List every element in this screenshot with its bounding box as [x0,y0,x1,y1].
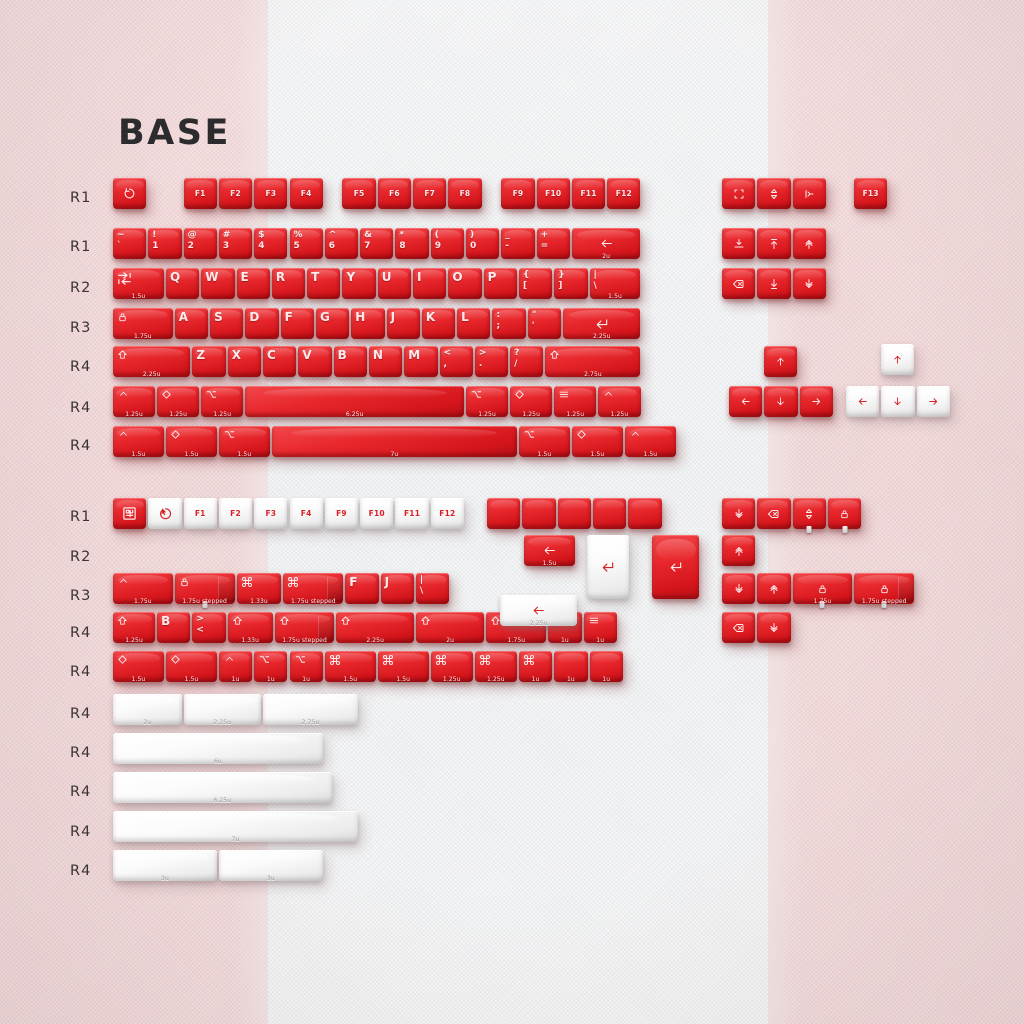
keycap-size-label: 1.25u [554,411,596,418]
keycap-size-label: 1.25u [113,637,155,644]
keycap-legend-top: < [444,349,452,358]
keycap-size-label: 1.5u [113,293,164,300]
keycap-size-label: 6.25u [113,797,332,804]
key-arrow-up-white[interactable] [881,344,914,375]
key-backspace[interactable]: 2u [572,228,641,259]
key-quote[interactable]: "' [528,308,561,339]
row-label-s2-8: R4 [70,824,91,840]
keycap-size-label: 2u [572,253,641,260]
keycap-legend-bottom: 7 [364,242,370,251]
key-n[interactable]: N [369,346,402,377]
keycap-legend-top: & [364,231,372,240]
keycap-size-label: 1.25u [475,676,517,683]
key-page-up-s2[interactable] [722,535,755,566]
command-icon [523,654,535,666]
key-scroll-lock[interactable] [757,178,790,209]
key-enter[interactable]: 2.25u [563,308,640,339]
keycap-size-label: 1.5u [113,676,164,683]
key-cmd2-5[interactable]: 1.5u [325,651,376,682]
key-end[interactable] [757,268,790,299]
keycap-legend: Z [196,349,205,361]
key-f13[interactable]: F13 [854,178,887,209]
key-cmd2-2[interactable]: 1u [219,651,252,682]
key-p[interactable]: P [484,268,517,299]
key-f2[interactable]: F2 [219,178,252,209]
keycap-legend-bottom: 3 [223,242,229,251]
key-c[interactable]: C [263,346,296,377]
key-y[interactable]: Y [342,268,375,299]
keycap-size-label: 1.75u stepped [283,598,343,605]
key-cmd2-3[interactable]: 1u [254,651,287,682]
keycap-size-label: 1u [290,676,323,683]
keycap-legend-bottom: = [541,242,549,251]
keycap-size-label: 1.25u [431,676,473,683]
stepped-shoulder [898,577,915,602]
keycap-size-label: 1.25u [201,411,243,418]
key-mod-b-5[interactable]: 1.5u [572,426,623,457]
key-spacebar-2-0[interactable]: 6.25u [113,772,332,803]
key-cmd2-10[interactable]: 1u [554,651,587,682]
key-mod2-2[interactable]: 1.33u [237,573,282,604]
key-b[interactable]: B [334,346,367,377]
key-blank-top-4[interactable] [628,498,661,529]
keycap-legend: V [302,349,311,361]
key-caps-lock-s2[interactable] [828,498,861,529]
key-f12[interactable]: F12 [607,178,640,209]
key-num-1[interactable]: !1 [148,228,181,259]
key-mod2-right-0[interactable] [722,573,755,604]
key-delete[interactable] [722,268,755,299]
keycap-legend-top: ( [435,231,439,240]
key-mod2-1[interactable]: 1.75u stepped [175,573,235,604]
shift-arrow-icon [420,615,431,627]
key-escape[interactable] [113,178,146,209]
page-up-icon [803,238,815,250]
key-mod-b-1[interactable]: 1.5u [166,426,217,457]
key-white-f4[interactable]: F4 [290,498,323,529]
shift-arrow-icon [279,615,290,627]
arrow-up-icon [892,354,903,365]
key-arrow-up[interactable] [764,346,797,377]
windows-diamond-icon [514,389,525,400]
key-period[interactable]: >. [475,346,508,377]
keycap-size-label: 1.25u [510,411,552,418]
keycap-size-label: 1u [254,676,287,683]
key-num-9[interactable]: (9 [431,228,464,259]
key-f10[interactable]: F10 [537,178,570,209]
keycap-legend: Y [346,271,355,283]
key-white-f3[interactable]: F3 [254,498,287,529]
key-blank-top-2[interactable] [558,498,591,529]
row-label-s2-2: R3 [70,588,91,604]
key-w[interactable]: W [201,268,234,299]
key-white-f11[interactable]: F11 [395,498,428,529]
keycap-legend-fkey: F1 [195,190,206,198]
key-num-0[interactable]: ~` [113,228,146,259]
key-spacebar-0-0[interactable]: 2u [113,694,182,725]
key-j[interactable]: J [387,308,420,339]
key-mod-b-3[interactable]: 7u [272,426,517,457]
key-page-down-s2[interactable] [722,498,755,529]
keycap-size-label: 1.33u [237,598,282,605]
key-f4[interactable]: F4 [290,178,323,209]
key-num-5[interactable]: %5 [290,228,323,259]
key-r[interactable]: R [272,268,305,299]
key-arrow-right[interactable] [800,386,833,417]
key-a[interactable]: A [175,308,208,339]
key-mod-a-7[interactable]: 1.25u [598,386,640,417]
keycap-size-label: 1.5u [219,451,270,458]
tab-icon [117,271,132,286]
keycap-legend-bottom: 6 [329,242,335,251]
keycap-size-label: 7u [113,836,358,843]
key-shift2-2[interactable]: >< [192,612,225,643]
control-caret-icon [602,389,615,399]
key-shift2-9[interactable]: 1u [584,612,617,643]
key-print-screen[interactable] [722,178,755,209]
key-iso-enter-red[interactable] [652,535,699,599]
key-mod-a-4[interactable]: 1.25u [466,386,508,417]
keycap-legend-fkey: F8 [460,190,471,198]
arrow-right-icon [928,396,939,407]
key-f5[interactable]: F5 [342,178,375,209]
key-arrow-down[interactable] [764,386,797,417]
keycap-legend-top: > [479,349,487,358]
scroll-lock-icon [803,508,815,520]
key-s[interactable]: S [210,308,243,339]
page-down-icon [733,508,745,520]
keycap-size-label: 1.5u [625,451,676,458]
row-label-s1-5: R4 [70,400,91,416]
key-num-7[interactable]: &7 [360,228,393,259]
key-mod2-right-1[interactable] [757,573,790,604]
key-f8[interactable]: F8 [448,178,481,209]
keycap-size-label: 1.5u [524,560,575,567]
key-d[interactable]: D [245,308,278,339]
keycap-legend-top: * [399,231,404,240]
keycap-legend: N [373,349,383,361]
key-page-up[interactable] [793,228,826,259]
key-num-6[interactable]: ^6 [325,228,358,259]
key-white-f2[interactable]: F2 [219,498,252,529]
key-delete-s2[interactable] [757,498,790,529]
keycap-legend-bottom: 4 [258,242,264,251]
keycap-size-label: 2.75u [263,719,358,726]
key-num-10[interactable]: )0 [466,228,499,259]
key-spacebar-4-0[interactable]: 3u [113,850,217,881]
caps-lock-icon [117,311,128,323]
keycap-legend: A [179,311,188,323]
key-num-8[interactable]: *8 [395,228,428,259]
key-home[interactable] [757,228,790,259]
keycap-legend-fkey: F10 [369,510,385,518]
key-insert[interactable] [722,228,755,259]
control-caret-icon [117,429,130,439]
key-mod2-3[interactable]: 1.75u stepped [283,573,343,604]
key-num-11[interactable]: _- [501,228,534,259]
key-f1[interactable]: F1 [184,178,217,209]
key-t[interactable]: T [307,268,340,299]
key-page-down[interactable] [793,268,826,299]
arrow-left-icon [740,396,751,407]
key-l[interactable]: L [457,308,490,339]
keycap-legend: X [232,349,241,361]
key-f11[interactable]: F11 [572,178,605,209]
page-down-icon [733,583,745,595]
key-shift-right[interactable]: 2.75u [545,346,640,377]
row-label-s2-5: R4 [70,706,91,722]
keycap-legend-bottom: / [514,360,517,369]
key-blank-top-3[interactable] [593,498,626,529]
enter-arrow-icon [668,560,684,574]
keycap-size-label: 1.25u [598,411,640,418]
key-white-f1[interactable]: F1 [184,498,217,529]
windows-diamond-icon [170,429,181,440]
keycap-size-label: 1.75u stepped [275,637,335,644]
key-f6[interactable]: F6 [378,178,411,209]
keycap-legend-top: ! [152,231,156,240]
key-mod-a-3[interactable]: 6.25u [245,386,464,417]
enter-arrow-icon [600,560,616,574]
key-spacebar-3-0[interactable]: 7u [113,811,358,842]
key-iso-enter-white[interactable] [587,535,629,599]
key-g[interactable]: G [316,308,349,339]
keycap-legend-top: _ [505,231,510,240]
keycap-size-label: 1.5u [590,293,641,300]
key-mod-b-6[interactable]: 1.5u [625,426,676,457]
option-icon [294,654,307,665]
keycap-legend-bottom: 0 [470,242,476,251]
key-num-12[interactable]: += [537,228,570,259]
key-mod2-right-3[interactable]: 1.75u stepped [854,573,914,604]
stepped-shoulder [318,616,335,641]
keycap-legend: S [214,311,223,323]
key-white-f9[interactable]: F9 [325,498,358,529]
keycap-legend-top: % [294,231,303,240]
keycap-legend-bottom: 5 [294,242,300,251]
chinese-seal-novelty-icon [122,506,137,521]
keycap-size-label: 1u [219,676,252,683]
keycap-legend-fkey: F5 [354,190,365,198]
command-icon [329,654,341,666]
keycap-size-label: 1u [519,676,552,683]
key-x[interactable]: X [228,346,261,377]
key-tab[interactable]: 1.5u [113,268,164,299]
key-u[interactable]: U [378,268,411,299]
key-delete-s2b[interactable] [722,612,755,643]
key-escape-white[interactable] [148,498,181,529]
key-bracket-right[interactable]: }] [554,268,587,299]
menu-lines-icon [588,615,600,626]
key-scroll-lock-s2[interactable] [793,498,826,529]
row-label-s1-3: R3 [70,320,91,336]
key-cmd2-8[interactable]: 1.25u [475,651,517,682]
row-label-s1-2: R2 [70,280,91,296]
keycap-legend-fkey: F11 [404,510,420,518]
keycap-legend-top: } [558,271,564,280]
key-caps-lock[interactable]: 1.75u [113,308,173,339]
key-z[interactable]: Z [192,346,225,377]
keycap-size-label: 1.25u [113,411,155,418]
keycap-legend: G [320,311,330,323]
row-label-s1-4: R4 [70,359,91,375]
key-white-f12[interactable]: F12 [431,498,464,529]
key-num-4[interactable]: $4 [254,228,287,259]
keycap-size-label: 1.75u [113,598,173,605]
keycap-size-label: 6u [113,758,323,765]
key-cmd2-1[interactable]: 1.5u [166,651,217,682]
key-num-3[interactable]: #3 [219,228,252,259]
keycap-legend-bottom: [ [523,282,527,291]
key-novelty-seal[interactable] [113,498,146,529]
keycap-legend-bottom: , [444,360,447,369]
keycap-size-label: 1.5u [519,451,570,458]
keycap-size-label: 1.33u [228,637,273,644]
keycap-legend: F [349,576,357,588]
key-mod2-5[interactable]: J [381,573,414,604]
key-mod-a-1[interactable]: 1.25u [157,386,199,417]
keycap-legend-top: @ [188,231,197,240]
stepped-shoulder [218,577,235,602]
keycap-legend: Q [170,271,180,283]
key-f7[interactable]: F7 [413,178,446,209]
key-shift-left[interactable]: 2.25u [113,346,190,377]
row-label-s1-0: R1 [70,190,91,206]
key-white-f10[interactable]: F10 [360,498,393,529]
caps-lock-icon [817,583,828,595]
key-cmd2-9[interactable]: 1u [519,651,552,682]
key-num-2[interactable]: @2 [184,228,217,259]
key-shift2-0[interactable]: 1.25u [113,612,155,643]
keycap-size-label: 1.5u [166,676,217,683]
keycap-size-label: 2.25u [336,637,413,644]
keycap-legend-fkey: F4 [301,190,312,198]
key-blank-top-1[interactable] [522,498,555,529]
command-icon [241,576,253,588]
keycap-size-label: 1.25u [157,411,199,418]
key-mod-b-0[interactable]: 1.5u [113,426,164,457]
key-arrow-down-white[interactable] [881,386,914,417]
row-label-s1-1: R1 [70,239,91,255]
delete-icon [767,508,780,520]
backspace-arrow-icon [541,544,558,557]
key-e[interactable]: E [237,268,270,299]
key-shift2-4[interactable]: 1.75u stepped [275,612,335,643]
key-page-down-s2b[interactable] [757,612,790,643]
keycap-legend-bottom: ' [532,322,535,331]
command-icon [435,654,447,666]
stepped-shoulder [327,577,344,602]
key-arrow-left[interactable] [729,386,762,417]
key-shift2-5[interactable]: 2.25u [336,612,413,643]
key-bracket-left[interactable]: {[ [519,268,552,299]
keycap-legend: D [249,311,259,323]
key-f[interactable]: F [281,308,314,339]
key-pause-break[interactable] [793,178,826,209]
key-blank-top-0[interactable] [487,498,520,529]
keycap-legend-bottom: 1 [152,242,158,251]
keycap-size-label: 1.5u [113,451,164,458]
keycap-legend-bottom: . [479,360,482,369]
key-comma[interactable]: <, [440,346,473,377]
key-q[interactable]: Q [166,268,199,299]
key-mod-a-5[interactable]: 1.25u [510,386,552,417]
key-shift2-3[interactable]: 1.33u [228,612,273,643]
keycap-legend-fkey: F9 [336,510,347,518]
keycap-size-label: 1u [548,637,581,644]
key-cmd2-7[interactable]: 1.25u [431,651,473,682]
key-mod-a-2[interactable]: 1.25u [201,386,243,417]
key-h[interactable]: H [351,308,384,339]
caps-lock-icon [179,576,190,588]
key-spacebar-0-2[interactable]: 2.75u [263,694,358,725]
key-mod2-right-2[interactable]: 1.75u [793,573,853,604]
key-arrow-right-white[interactable] [917,386,950,417]
keycap-legend-fkey: F3 [265,190,276,198]
key-mod-a-0[interactable]: 1.25u [113,386,155,417]
key-arrow-left-white[interactable] [846,386,879,417]
option-icon [205,389,218,400]
keycap-legend-bottom: ; [496,322,500,331]
key-f3[interactable]: F3 [254,178,287,209]
keycap-legend-fkey: F13 [863,190,879,198]
windows-diamond-icon [161,389,172,400]
key-spacebar-0-1[interactable]: 2.25u [184,694,261,725]
key-cmd2-11[interactable]: 1u [590,651,623,682]
key-mod-a-6[interactable]: 1.25u [554,386,596,417]
key-o[interactable]: O [448,268,481,299]
key-spacebar-4-1[interactable]: 3u [219,850,323,881]
key-cmd2-4[interactable]: 1u [290,651,323,682]
page-title: BASE [118,113,231,153]
key-v[interactable]: V [298,346,331,377]
key-shift2-6[interactable]: 2u [416,612,485,643]
key-mod2-6[interactable]: |\ [416,573,449,604]
key-mod-b-2[interactable]: 1.5u [219,426,270,457]
keycap-legend-fkey: F12 [616,190,632,198]
keycap-legend-fkey: F3 [265,510,276,518]
keycap-legend: B [161,615,170,627]
keycap-size-label: 1.5u [166,451,217,458]
key-f9[interactable]: F9 [501,178,534,209]
key-i[interactable]: I [413,268,446,299]
key-backspace-white-225u[interactable]: 2.25u [500,595,577,626]
windows-diamond-icon [117,654,128,665]
keycap-legend-fkey: F11 [580,190,596,198]
key-slash[interactable]: ?/ [510,346,543,377]
command-icon [287,576,299,588]
keycap-size-label: 3u [219,875,323,882]
key-backslash[interactable]: |\1.5u [590,268,641,299]
key-mod-b-4[interactable]: 1.5u [519,426,570,457]
key-spacebar-1-0[interactable]: 6u [113,733,323,764]
key-backspace-15u[interactable]: 1.5u [524,535,575,566]
keycap-legend-bottom: ] [558,282,562,291]
key-semicolon[interactable]: :; [492,308,525,339]
keycap-size-label: 1.75u [113,333,173,340]
keycap-legend: O [452,271,462,283]
key-k[interactable]: K [422,308,455,339]
key-cmd2-0[interactable]: 1.5u [113,651,164,682]
key-m[interactable]: M [404,346,437,377]
key-mod2-4[interactable]: F [345,573,378,604]
arrow-right-icon [811,396,822,407]
keycap-legend: P [488,271,497,283]
key-shift2-1[interactable]: B [157,612,190,643]
key-mod2-0[interactable]: 1.75u [113,573,173,604]
menu-lines-icon [558,389,570,400]
key-cmd2-6[interactable]: 1.5u [378,651,429,682]
